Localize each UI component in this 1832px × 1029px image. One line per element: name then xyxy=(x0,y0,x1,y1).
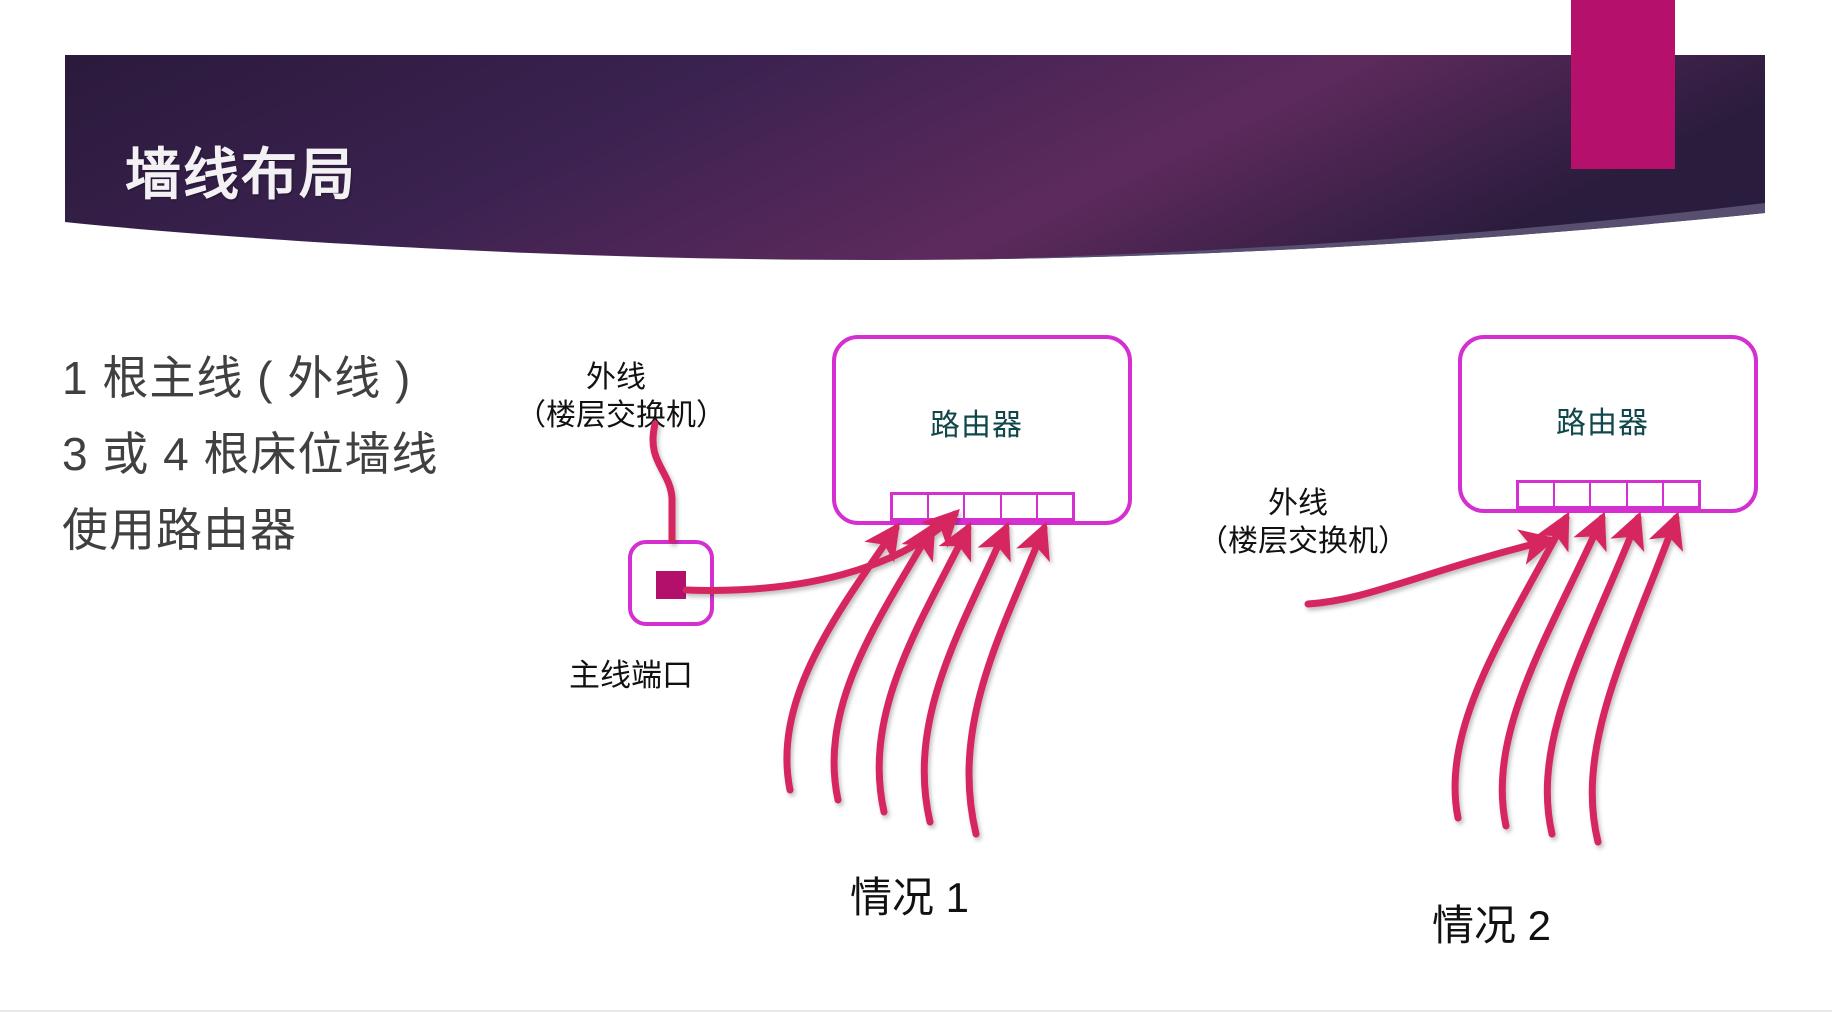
wall-line-arrow-case1 xyxy=(969,528,1044,834)
router-ports-case1 xyxy=(890,492,1075,521)
case1-outline-label-line2: （楼层交换机） xyxy=(516,390,726,434)
wall-line-arrow-case2 xyxy=(1502,518,1602,826)
case1-caption: 情况 1 xyxy=(850,864,969,925)
bottom-divider xyxy=(0,1010,1832,1012)
router-port xyxy=(1664,483,1698,506)
router-ports-case2 xyxy=(1516,480,1701,509)
body-text-line-1: 1 根主线 ( 外线 ) xyxy=(62,340,532,416)
router-port xyxy=(1038,495,1072,518)
router-port xyxy=(1555,483,1591,506)
router-port xyxy=(929,495,965,518)
trunk-port-connector-icon xyxy=(656,571,686,599)
page-title: 墙线布局 xyxy=(125,130,357,211)
external-line-case1 xyxy=(653,424,672,540)
slide-canvas: 墙线布局 1 根主线 ( 外线 ) 3 或 4 根床位墙线 使用路由器 外线 （… xyxy=(0,0,1832,1029)
wall-line-arrow-case2 xyxy=(1455,518,1566,818)
router-label-case1: 路由器 xyxy=(930,400,1023,444)
body-text-line-2: 3 或 4 根床位墙线 xyxy=(62,416,532,492)
trunk-port-label: 主线端口 xyxy=(569,650,693,695)
router-port xyxy=(1519,483,1555,506)
wall-line-arrow-case1 xyxy=(924,528,1006,822)
body-text-line-3: 使用路由器 xyxy=(62,492,532,568)
accent-rectangle xyxy=(1571,0,1675,169)
trunk-to-router-arrow-case1 xyxy=(686,514,955,590)
router-port xyxy=(1628,483,1664,506)
case2-outline-label-line2: （楼层交换机） xyxy=(1198,516,1408,560)
wall-line-arrow-case2 xyxy=(1592,518,1676,842)
router-port xyxy=(893,495,929,518)
router-port xyxy=(1002,495,1038,518)
wall-line-arrow-case2 xyxy=(1547,518,1638,834)
body-text-block: 1 根主线 ( 外线 ) 3 或 4 根床位墙线 使用路由器 xyxy=(62,340,532,568)
router-port xyxy=(965,495,1001,518)
wall-line-arrow-case1 xyxy=(834,528,932,800)
wall-line-arrow-case1 xyxy=(879,528,968,812)
wall-line-arrow-case1 xyxy=(787,528,896,790)
router-port xyxy=(1591,483,1627,506)
case2-caption: 情况 2 xyxy=(1432,892,1551,953)
router-label-case2: 路由器 xyxy=(1556,398,1649,442)
